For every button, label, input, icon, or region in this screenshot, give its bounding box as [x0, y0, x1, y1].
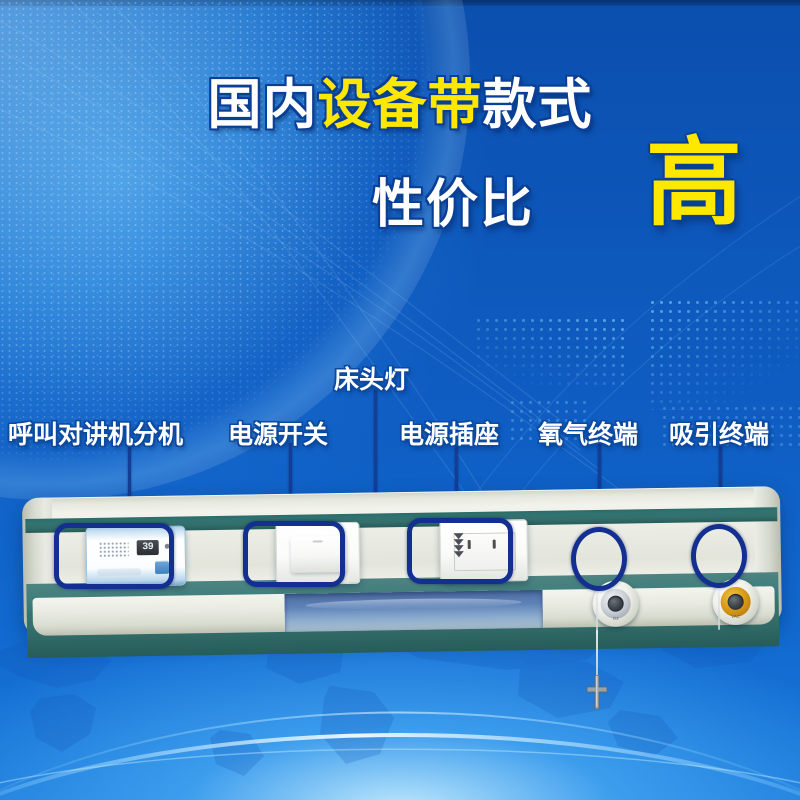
- bed-lamp-diffuser: [284, 590, 543, 632]
- bed-head-unit-photo: 39: [0, 0, 800, 800]
- suction-cord-upper: [718, 588, 720, 630]
- highlight-box-switch: [243, 521, 345, 587]
- oxygen-cord-upper: [596, 590, 598, 634]
- highlight-box-intercom: [54, 523, 174, 589]
- highlight-ellipse-oxygen: [571, 527, 627, 591]
- highlight-ellipse-suction: [691, 524, 747, 588]
- oxygen-port-label: O2: [593, 615, 639, 621]
- promo-banner-canvas: 国内设备带款式 性价比 高 呼叫对讲机分机 电源开关 床头灯 电源插座 氧气终端…: [0, 0, 800, 800]
- highlight-box-socket: [407, 518, 513, 584]
- cord-metal-cross-fitting: [586, 675, 608, 709]
